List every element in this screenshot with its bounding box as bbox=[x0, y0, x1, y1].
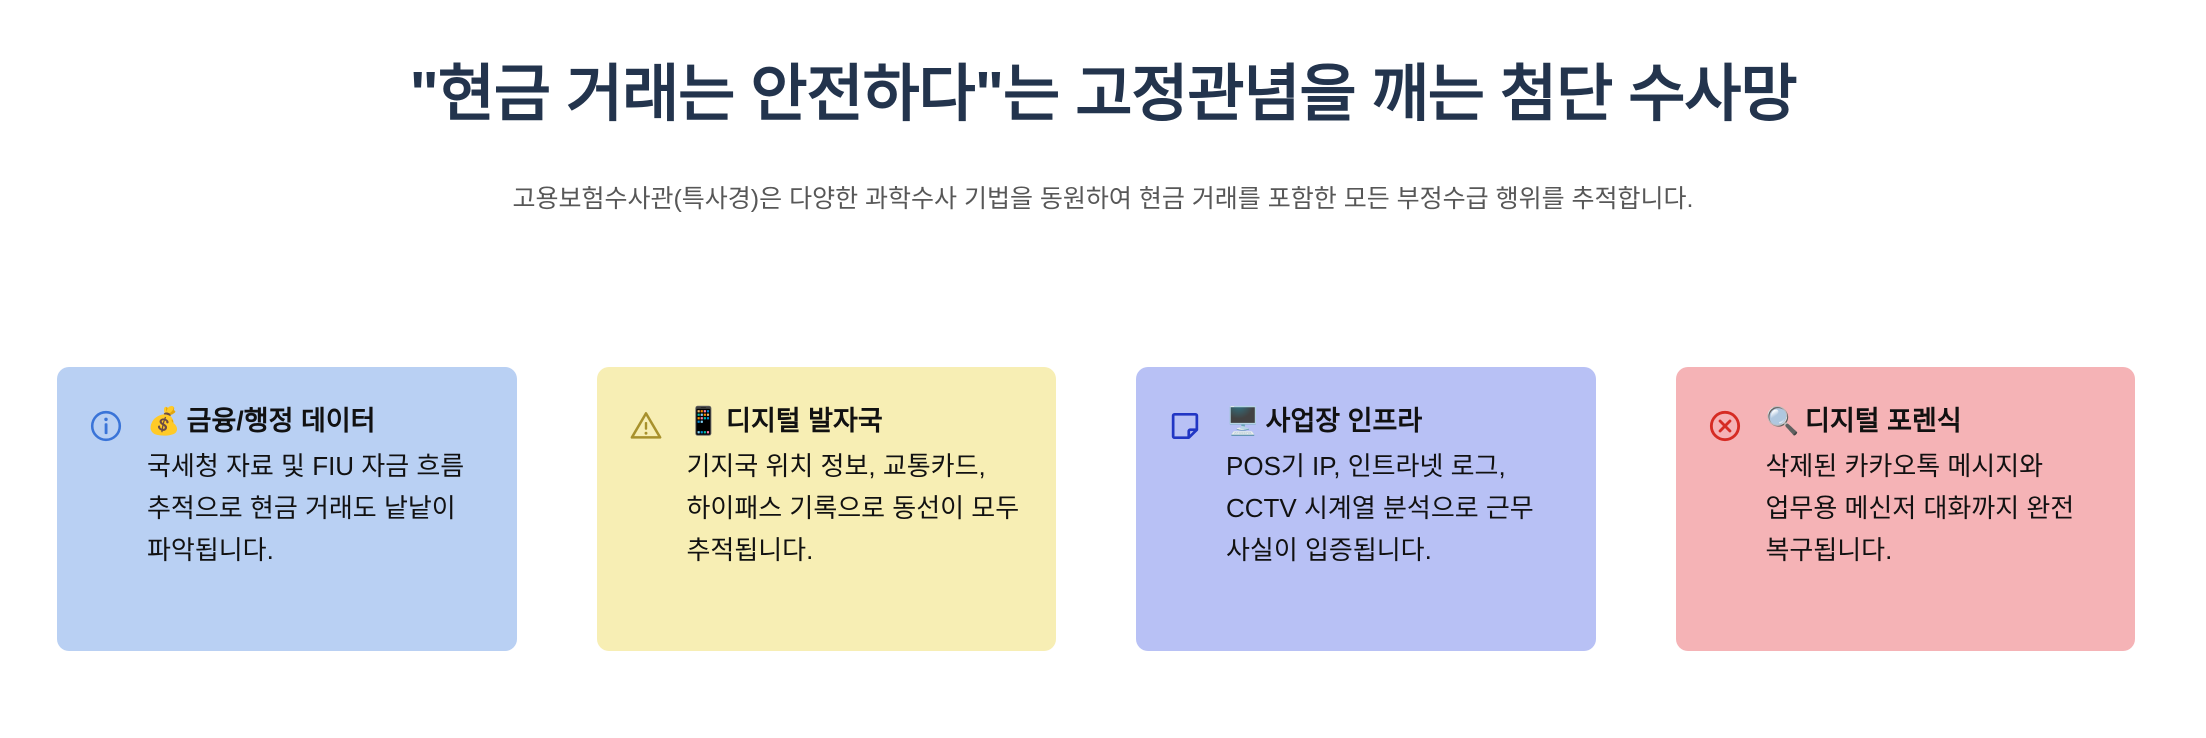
sticky-note-icon bbox=[1166, 407, 1204, 445]
heading-block: "현금 거래는 안전하다"는 고정관념을 깨는 첨단 수사망 고용보험수사관(특… bbox=[0, 0, 2206, 219]
card-title: 🔍디지털 포렌식 bbox=[1766, 405, 2106, 439]
card-description: 기지국 위치 정보, 교통카드, 하이패스 기록으로 동선이 모두 추적됩니다. bbox=[687, 445, 1027, 571]
page-root: "현금 거래는 안전하다"는 고정관념을 깨는 첨단 수사망 고용보험수사관(특… bbox=[0, 0, 2206, 738]
card-title: 💰금융/행정 데이터 bbox=[147, 405, 487, 439]
money-bag-emoji: 💰 bbox=[147, 406, 181, 437]
card-title-text: 사업장 인프라 bbox=[1266, 406, 1423, 436]
card-digital-forensics[interactable]: 🔍디지털 포렌식 삭제된 카카오톡 메시지와 업무용 메신저 대화까지 완전 복… bbox=[1676, 367, 2136, 651]
desktop-computer-emoji: 🖥️ bbox=[1226, 406, 1260, 437]
card-digital-footprint[interactable]: 📱디지털 발자국 기지국 위치 정보, 교통카드, 하이패스 기록으로 동선이 … bbox=[597, 367, 1057, 651]
card-body: 💰금융/행정 데이터 국세청 자료 및 FIU 자금 흐름 추적으로 현금 거래… bbox=[147, 405, 487, 571]
page-title: "현금 거래는 안전하다"는 고정관념을 깨는 첨단 수사망 bbox=[0, 58, 2206, 131]
mobile-phone-emoji: 📱 bbox=[687, 406, 721, 437]
card-description: POS기 IP, 인트라넷 로그, CCTV 시계열 분석으로 근무 사실이 입… bbox=[1226, 445, 1566, 571]
card-title-text: 디지털 발자국 bbox=[726, 406, 883, 436]
x-circle-icon bbox=[1706, 407, 1744, 445]
card-body: 🔍디지털 포렌식 삭제된 카카오톡 메시지와 업무용 메신저 대화까지 완전 복… bbox=[1766, 405, 2106, 571]
card-title: 🖥️사업장 인프라 bbox=[1226, 405, 1566, 439]
warning-triangle-icon bbox=[627, 407, 665, 445]
feature-cards-row: 💰금융/행정 데이터 국세청 자료 및 FIU 자금 흐름 추적으로 현금 거래… bbox=[57, 367, 2135, 651]
info-circle-icon bbox=[87, 407, 125, 445]
card-description: 삭제된 카카오톡 메시지와 업무용 메신저 대화까지 완전 복구됩니다. bbox=[1766, 445, 2106, 571]
card-financial-data[interactable]: 💰금융/행정 데이터 국세청 자료 및 FIU 자금 흐름 추적으로 현금 거래… bbox=[57, 367, 517, 651]
card-title: 📱디지털 발자국 bbox=[687, 405, 1027, 439]
magnifying-glass-emoji: 🔍 bbox=[1766, 406, 1800, 437]
page-subtitle: 고용보험수사관(특사경)은 다양한 과학수사 기법을 동원하여 현금 거래를 포… bbox=[0, 131, 2206, 219]
card-body: 📱디지털 발자국 기지국 위치 정보, 교통카드, 하이패스 기록으로 동선이 … bbox=[687, 405, 1027, 571]
card-workplace-infrastructure[interactable]: 🖥️사업장 인프라 POS기 IP, 인트라넷 로그, CCTV 시계열 분석으… bbox=[1136, 367, 1596, 651]
card-title-text: 디지털 포렌식 bbox=[1805, 406, 1962, 436]
card-description: 국세청 자료 및 FIU 자금 흐름 추적으로 현금 거래도 낱낱이 파악됩니다… bbox=[147, 445, 487, 571]
card-body: 🖥️사업장 인프라 POS기 IP, 인트라넷 로그, CCTV 시계열 분석으… bbox=[1226, 405, 1566, 571]
card-title-text: 금융/행정 데이터 bbox=[187, 406, 376, 436]
